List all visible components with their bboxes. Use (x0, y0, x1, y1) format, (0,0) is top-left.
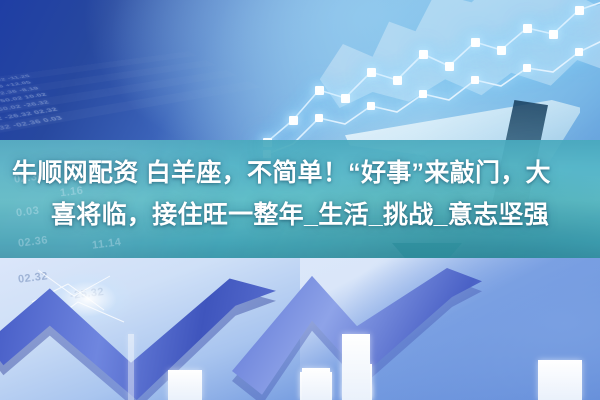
bar-column (302, 368, 330, 400)
headline-line-1: 牛顺网配资 白羊座，不简单！“好事”来敲门，大 (10, 152, 590, 194)
article-banner: +12.36 -0.35 2.18 +45.02 -11.25 -0.02 +5… (0, 0, 600, 400)
bar-column (538, 360, 582, 400)
bar-column (168, 370, 202, 400)
page-title: 牛顺网配资 白羊座，不简单！“好事”来敲门，大 喜将临，接住旺一整年_生活_挑战… (0, 152, 600, 236)
bar-column (342, 334, 370, 400)
headline-line-2: 喜将临，接住旺一整年_生活_挑战_意志坚强 (10, 194, 590, 236)
bar-column (128, 334, 134, 400)
